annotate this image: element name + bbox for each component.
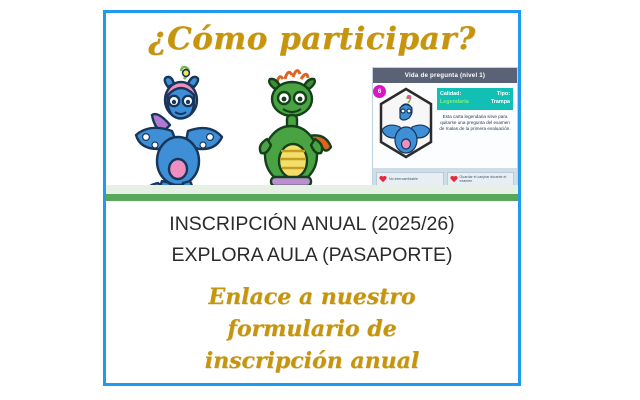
card-stat-value-1: Trampa — [491, 98, 510, 106]
card-body: 6 — [373, 83, 517, 168]
card-title: Vida de pregunta (nivel 1) — [373, 68, 517, 83]
game-card[interactable]: Vida de pregunta (nivel 1) 6 — [372, 67, 518, 191]
call-to-action[interactable]: Enlace a nuestro formulario de inscripci… — [106, 281, 518, 377]
green-divider — [106, 194, 518, 201]
card-portrait-hexagon — [378, 87, 434, 159]
cta-line-1: Enlace a nuestro — [106, 281, 518, 313]
info-line-1: INSCRIPCIÓN ANUAL (2025/26) — [106, 209, 518, 240]
card-stat-label-0: Calidad: — [440, 90, 461, 98]
card-stat-label-1: Tipo: — [497, 90, 510, 98]
card-stats: Calidad: Tipo: Legendaria Trampa — [437, 88, 513, 110]
slide-canvas: ¿Cómo participar? — [0, 0, 640, 400]
cta-line-2: formulario de — [106, 313, 518, 345]
cta-line-3: inscripción anual — [106, 345, 518, 377]
card-level-badge: 6 — [373, 85, 386, 98]
info-lines: INSCRIPCIÓN ANUAL (2025/26) EXPLORA AULA… — [106, 209, 518, 271]
info-line-2: EXPLORA AULA (PASAPORTE) — [106, 240, 518, 271]
blue-dragon-monster — [124, 65, 228, 193]
card-description: Esta carta legendaria sirve para quitars… — [437, 114, 513, 133]
card-footer-label-0: No intercambiable — [389, 177, 418, 181]
card-stat-value-0: Legendaria — [440, 98, 469, 106]
green-dinosaur-monster — [243, 65, 343, 193]
card-footer-chip-0[interactable]: No intercambiable — [376, 172, 444, 186]
card-footer-chip-1[interactable]: Guardar el canjear durante el examen — [447, 172, 515, 186]
heart-icon — [450, 175, 458, 183]
heart-icon — [379, 175, 387, 183]
page-title: ¿Cómo participar? — [106, 21, 518, 57]
card-footer-label-1: Guardar el canjear durante el examen — [460, 175, 512, 183]
content-frame: ¿Cómo participar? — [103, 10, 521, 386]
illustration-row: Vida de pregunta (nivel 1) 6 — [106, 61, 518, 194]
